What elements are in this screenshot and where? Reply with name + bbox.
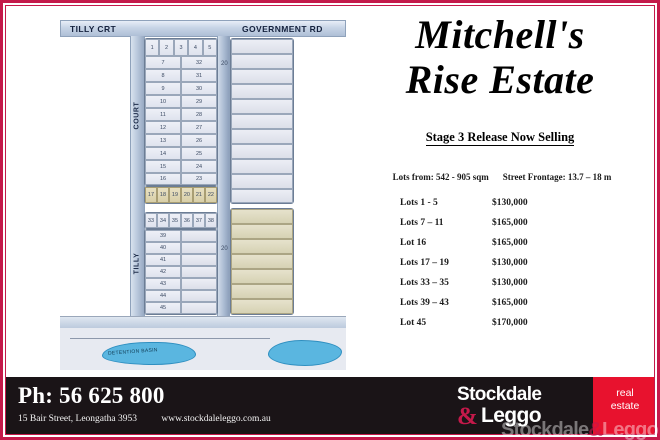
road-band-vertical-mid — [217, 36, 230, 336]
price-row: Lots 1 - 5 $130,000 — [400, 193, 630, 213]
lot-row-41: 41 — [145, 254, 217, 266]
lot-row-33-38: 33 34 35 36 37 38 — [145, 213, 217, 228]
price-list: Lots 1 - 5 $130,000 Lots 7 – 11 $165,000… — [400, 193, 630, 333]
lot-15: 15 — [145, 160, 181, 173]
lot-unlabeled — [231, 99, 293, 114]
lot-row-16-23: 16 23 — [145, 173, 217, 185]
lot-unlabeled — [231, 114, 293, 129]
lot-row-right — [231, 174, 293, 189]
lot-10: 10 — [145, 95, 181, 108]
lot-unlabeled — [181, 230, 217, 242]
price-row: Lots 33 – 35 $130,000 — [400, 273, 630, 293]
lot-35: 35 — [169, 213, 181, 228]
price-row: Lots 39 – 43 $165,000 — [400, 293, 630, 313]
lot-33: 33 — [145, 213, 157, 228]
lot-44: 44 — [145, 290, 181, 302]
logo-word-stockdale: Stockdale — [457, 385, 541, 404]
lot-23: 23 — [181, 173, 217, 185]
lot-unlabeled — [231, 144, 293, 159]
lot-1: 1 — [145, 39, 159, 56]
price-row: Lot 16 $165,000 — [400, 233, 630, 253]
lot-row-43: 43 — [145, 278, 217, 290]
lot-14: 14 — [145, 147, 181, 160]
lot-38: 38 — [205, 213, 217, 228]
price-row: Lots 17 – 19 $130,000 — [400, 253, 630, 273]
site-plan: TILLY CRT GOVERNMENT RD COURT TILLY 1 2 … — [56, 16, 346, 374]
lot-unlabeled — [231, 159, 293, 174]
lot-row-right — [231, 159, 293, 174]
lot-3: 3 — [174, 39, 188, 56]
lot-unlabeled — [231, 54, 293, 69]
lot-block-upper-left: 1 2 3 4 5 7 32 8 31 9 30 — [144, 38, 218, 186]
lot-row-10-29: 10 29 — [145, 95, 217, 108]
lot-unlabeled — [231, 84, 293, 99]
stage-release-text: Stage 3 Release Now Selling — [426, 130, 575, 146]
lot-unlabeled — [231, 224, 293, 239]
lot-21: 21 — [193, 187, 205, 203]
lot-row-right — [231, 189, 293, 203]
lot-17: 17 — [145, 187, 157, 203]
lot-31: 31 — [181, 69, 217, 82]
lot-row-right — [231, 209, 293, 224]
lot-row-44: 44 — [145, 290, 217, 302]
price-row-amount: $130,000 — [492, 198, 592, 208]
price-row-amount: $130,000 — [492, 278, 592, 288]
logo-tagline-line-1: real — [597, 387, 653, 400]
lot-row-7-32: 7 32 — [145, 56, 217, 69]
street-label-tilly-crt: TILLY CRT — [70, 24, 116, 34]
open-space-area: DETENTION BASIN — [60, 316, 346, 370]
advertisement-page: TILLY CRT GOVERNMENT RD COURT TILLY 1 2 … — [0, 0, 660, 440]
lot-unlabeled — [231, 269, 293, 284]
lot-11: 11 — [145, 108, 181, 121]
price-row-lots: Lots 1 - 5 — [400, 198, 492, 208]
price-row-amount: $165,000 — [492, 298, 592, 308]
price-row-amount: $165,000 — [492, 238, 592, 248]
lot-unlabeled — [181, 290, 217, 302]
lot-block-33-38: 33 34 35 36 37 38 — [144, 212, 218, 229]
lot-19: 19 — [169, 187, 181, 203]
lot-row-14-25: 14 25 — [145, 147, 217, 160]
road-band-bottom — [60, 316, 346, 328]
lot-13: 13 — [145, 134, 181, 147]
phone-number: Ph: 56 625 800 — [18, 383, 165, 409]
price-row-lots: Lot 16 — [400, 238, 492, 248]
lot-37: 37 — [193, 213, 205, 228]
lot-row-42: 42 — [145, 266, 217, 278]
price-row-lots: Lot 45 — [400, 318, 492, 328]
lot-25: 25 — [181, 147, 217, 160]
lot-43: 43 — [145, 278, 181, 290]
lot-unlabeled — [181, 242, 217, 254]
price-row-amount: $130,000 — [492, 258, 592, 268]
lot-22: 22 — [205, 187, 217, 203]
lot-7: 7 — [145, 56, 181, 69]
lot-row-right — [231, 69, 293, 84]
lot-row-right — [231, 99, 293, 114]
lot-row-12-27: 12 27 — [145, 121, 217, 134]
street-frontage-spec: Street Frontage: 13.7 – 18 m — [503, 172, 612, 182]
lot-5: 5 — [203, 39, 217, 56]
lot-unlabeled — [231, 299, 293, 314]
lot-unlabeled — [231, 129, 293, 144]
lot-row-45: 45 — [145, 302, 217, 314]
lot-specifications: Lots from: 542 - 905 sqm Street Frontage… — [356, 172, 648, 182]
lot-row-right — [231, 254, 293, 269]
price-row-lots: Lots 39 – 43 — [400, 298, 492, 308]
lot-30: 30 — [181, 82, 217, 95]
lot-45: 45 — [145, 302, 181, 314]
logo-ampersand: & — [457, 404, 478, 429]
lot-unlabeled — [231, 209, 293, 224]
lot-size-spec: Lots from: 542 - 905 sqm — [393, 172, 489, 182]
lot-unlabeled — [231, 189, 293, 203]
logo-tagline: real estate — [597, 387, 653, 413]
lot-unlabeled — [181, 278, 217, 290]
lot-row-right — [231, 269, 293, 284]
lot-row-40: 40 — [145, 242, 217, 254]
lot-9: 9 — [145, 82, 181, 95]
lot-unlabeled — [231, 254, 293, 269]
lot-34: 34 — [157, 213, 169, 228]
lot-row-right — [231, 284, 293, 299]
lot-40: 40 — [145, 242, 181, 254]
lot-row-8-31: 8 31 — [145, 69, 217, 82]
lot-unlabeled — [181, 254, 217, 266]
lot-unlabeled — [231, 174, 293, 189]
stockdale-leggo-logo: Stockdale & Leggo real estate — [447, 377, 655, 435]
lot-18: 18 — [157, 187, 169, 203]
lot-42: 42 — [145, 266, 181, 278]
lot-row-right — [231, 54, 293, 69]
path-line — [70, 338, 270, 339]
price-row-lots: Lots 7 – 11 — [400, 218, 492, 228]
lot-39: 39 — [145, 230, 181, 242]
lot-row-17-22: 17 18 19 20 21 22 — [145, 187, 217, 203]
lot-row-39: 39 — [145, 230, 217, 242]
lot-26: 26 — [181, 134, 217, 147]
lot-row-right — [231, 129, 293, 144]
lot-29: 29 — [181, 95, 217, 108]
price-row-amount: $165,000 — [492, 218, 592, 228]
site-plan-canvas: TILLY CRT GOVERNMENT RD COURT TILLY 1 2 … — [56, 16, 346, 374]
logo-tagline-line-2: estate — [597, 400, 653, 413]
lot-row-right — [231, 144, 293, 159]
price-row-lots: Lots 17 – 19 — [400, 258, 492, 268]
price-row: Lots 7 – 11 $165,000 — [400, 213, 630, 233]
lot-16: 16 — [145, 173, 181, 185]
lot-row-right — [231, 239, 293, 254]
lot-block-lower-left: 39 40 41 42 43 — [144, 229, 218, 315]
lot-row-11-28: 11 28 — [145, 108, 217, 121]
lot-8: 8 — [145, 69, 181, 82]
lot-unlabeled — [181, 302, 217, 314]
lot-block-right-upper — [230, 38, 294, 204]
lot-32: 32 — [181, 56, 217, 69]
lot-row-13-26: 13 26 — [145, 134, 217, 147]
lot-row-right — [231, 84, 293, 99]
lot-27: 27 — [181, 121, 217, 134]
logo-word-leggo: Leggo — [481, 405, 541, 426]
lot-unlabeled — [231, 69, 293, 84]
dimension-marker-20-upper: 20 — [221, 61, 228, 67]
website-url[interactable]: www.stockdaleleggo.com.au — [161, 414, 270, 424]
lot-unlabeled — [181, 266, 217, 278]
contact-footer-bar: Ph: 56 625 800 15 Bair Street, Leongatha… — [5, 377, 655, 435]
estate-title-line-2: Rise Estate — [352, 57, 648, 102]
street-label-court: COURT — [134, 96, 141, 136]
lot-row-right — [231, 114, 293, 129]
lot-2: 2 — [159, 39, 173, 56]
lot-row-right — [231, 299, 293, 314]
street-address: 15 Bair Street, Leongatha 3953 — [18, 414, 137, 424]
lot-unlabeled — [231, 284, 293, 299]
estate-title-line-1: Mitchell's — [352, 12, 648, 57]
lot-41: 41 — [145, 254, 181, 266]
lot-unlabeled — [231, 239, 293, 254]
price-row: Lot 45 $170,000 — [400, 313, 630, 333]
lot-12: 12 — [145, 121, 181, 134]
estate-title-block: Mitchell's Rise Estate — [352, 12, 648, 102]
road-band-vertical-tilly-court — [130, 36, 145, 336]
lot-20: 20 — [181, 187, 193, 203]
detention-basin-east — [268, 340, 342, 366]
lot-row-right — [231, 224, 293, 239]
lot-row-9-30: 9 30 — [145, 82, 217, 95]
lot-row-right — [231, 39, 293, 54]
price-row-amount: $170,000 — [492, 318, 592, 328]
lot-unlabeled — [231, 39, 293, 54]
lot-24: 24 — [181, 160, 217, 173]
stage-release-heading: Stage 3 Release Now Selling — [352, 130, 648, 145]
dimension-marker-20-lower: 20 — [221, 246, 228, 252]
street-label-government-rd: GOVERNMENT RD — [242, 24, 323, 34]
lot-row-15-24: 15 24 — [145, 160, 217, 173]
lot-4: 4 — [188, 39, 202, 56]
lot-row-top: 1 2 3 4 5 — [145, 39, 217, 56]
lot-block-highlighted-17-22: 17 18 19 20 21 22 — [144, 186, 218, 204]
street-label-tilly: TILLY — [134, 244, 141, 284]
lot-block-right-lower — [230, 208, 294, 315]
office-address-line: 15 Bair Street, Leongatha 3953 www.stock… — [18, 414, 271, 424]
lot-28: 28 — [181, 108, 217, 121]
lot-36: 36 — [181, 213, 193, 228]
price-row-lots: Lots 33 – 35 — [400, 278, 492, 288]
